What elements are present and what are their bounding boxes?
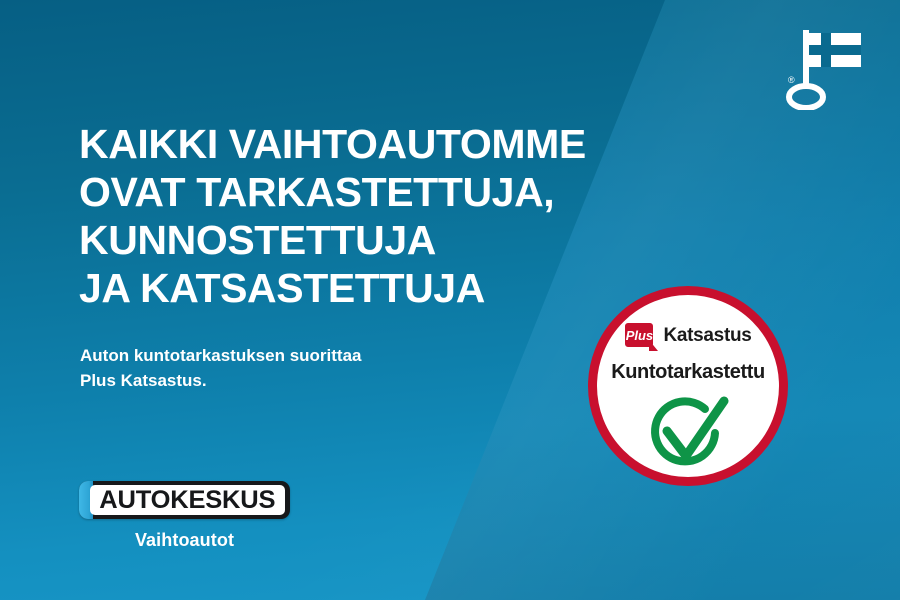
subtitle-text: Auton kuntotarkastuksen suorittaa Plus K… (80, 343, 500, 393)
plus-logo-tail (649, 340, 658, 351)
svg-text:®: ® (788, 75, 795, 85)
page-title: KAIKKI VAIHTOAUTOMME OVAT TARKASTETTUJA,… (79, 120, 679, 312)
plate-inner: AUTOKESKUS (90, 485, 285, 515)
kuntotarkastettu-badge: Plus Katsastus Kuntotarkastettu (588, 286, 788, 486)
badge-claim-text: Kuntotarkastettu (611, 362, 765, 382)
promo-banner: ® KAIKKI VAIHTOAUTOMME OVAT TARKASTETTUJ… (0, 0, 900, 600)
autokeskus-tagline: Vaihtoautot (79, 530, 290, 551)
plus-logo-icon: Plus (624, 322, 658, 348)
green-check-circle-icon (645, 395, 731, 476)
autokeskus-plate: AUTOKESKUS (79, 481, 290, 519)
badge-brand-name: Katsastus (663, 326, 751, 345)
autokeskus-wordmark: AUTOKESKUS (99, 488, 275, 513)
autokeskus-logo[interactable]: AUTOKESKUS Vaihtoautot (79, 481, 307, 551)
finnish-key-flag-icon: ® (786, 24, 864, 110)
badge-brand-row: Plus Katsastus (624, 322, 751, 348)
